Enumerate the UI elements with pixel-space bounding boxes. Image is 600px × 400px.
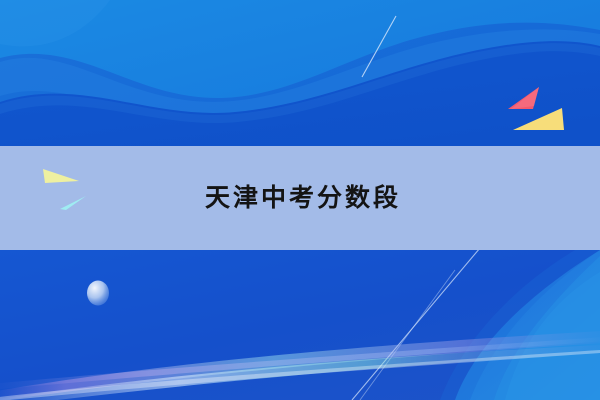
light-sphere-icon bbox=[87, 281, 109, 306]
title-band: 天津中考分数段 bbox=[0, 146, 600, 250]
banner-bottom-section bbox=[0, 250, 600, 400]
yellow-triangle-icon bbox=[510, 106, 566, 134]
bottom-waves-graphic bbox=[0, 250, 600, 400]
banner-image: 天津中考分数段 bbox=[0, 0, 600, 400]
banner-top-section bbox=[0, 0, 600, 146]
banner-title: 天津中考分数段 bbox=[0, 146, 600, 250]
